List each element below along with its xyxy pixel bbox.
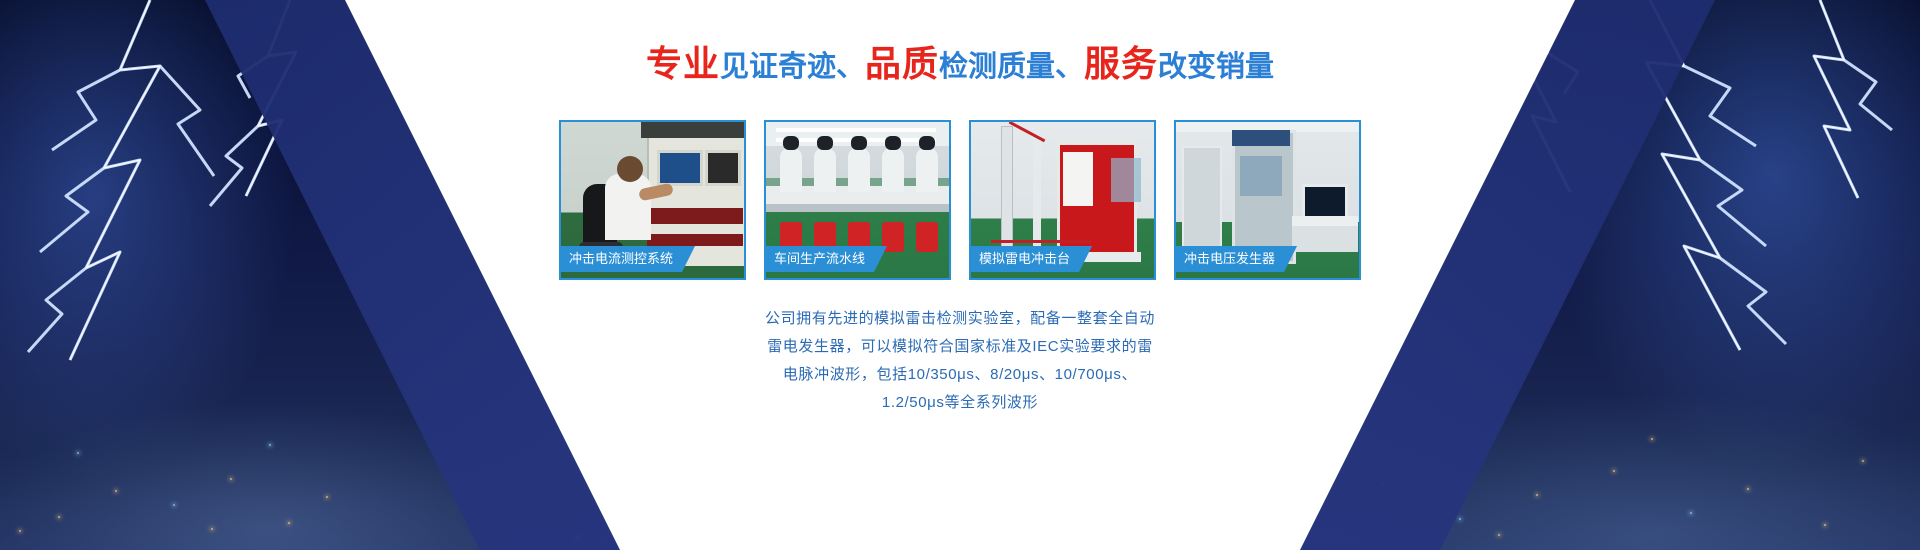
banner-stage: 专业见证奇迹、品质检测质量、服务改变销量 冲击电流测控系统 (0, 0, 1920, 550)
description-line: 电脉冲波形，包括10/350μs、8/20μs、10/700μs、 (0, 361, 1920, 389)
description-block: 公司拥有先进的模拟雷击检测实验室，配备一整套全自动 雷电发生器，可以模拟符合国家… (0, 305, 1920, 417)
headline-segment-2: 见证奇迹、 (720, 51, 865, 83)
headline-segment-1: 专业 (646, 43, 720, 84)
description-line: 公司拥有先进的模拟雷击检测实验室，配备一整套全自动 (0, 305, 1920, 333)
headline-segment-6: 改变销量 (1158, 51, 1274, 83)
photo-card[interactable]: 模拟雷电冲击台 (969, 120, 1156, 280)
description-line: 1.2/50μs等全系列波形 (0, 389, 1920, 417)
headline-segment-5: 服务 (1084, 43, 1158, 84)
headline: 专业见证奇迹、品质检测质量、服务改变销量 (0, 46, 1920, 82)
photo-caption: 冲击电流测控系统 (561, 246, 695, 272)
photo-card-list: 冲击电流测控系统 车间生产流水线 (0, 120, 1920, 280)
photo-card[interactable]: 冲击电流测控系统 (559, 120, 746, 280)
photo-caption: 冲击电压发生器 (1176, 246, 1297, 272)
photo-card[interactable]: 车间生产流水线 (764, 120, 951, 280)
description-line: 雷电发生器，可以模拟符合国家标准及IEC实验要求的雷 (0, 333, 1920, 361)
headline-segment-3: 品质 (865, 43, 939, 84)
photo-caption: 模拟雷电冲击台 (971, 246, 1092, 272)
headline-segment-4: 检测质量、 (939, 51, 1084, 83)
banner-content: 专业见证奇迹、品质检测质量、服务改变销量 冲击电流测控系统 (0, 0, 1920, 550)
photo-caption: 车间生产流水线 (766, 246, 887, 272)
photo-card[interactable]: 冲击电压发生器 (1174, 120, 1361, 280)
